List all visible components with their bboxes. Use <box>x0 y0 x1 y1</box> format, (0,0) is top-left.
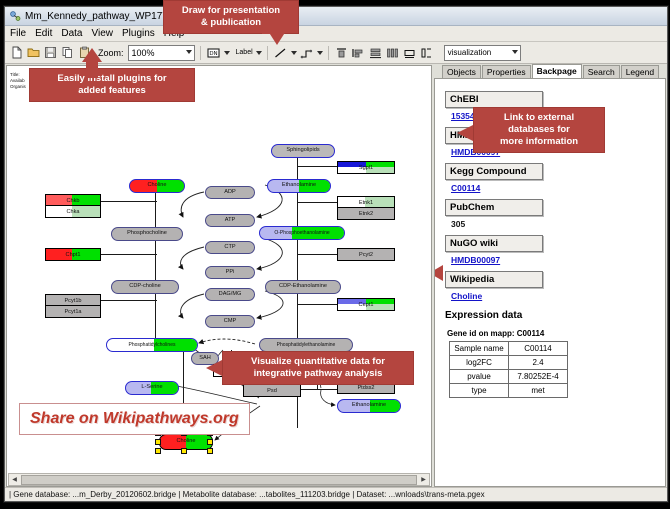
title-bar: Mm_Kennedy_pathway_WP1771_45176.gpml <box>5 7 667 26</box>
hscroll-thumb[interactable] <box>21 475 417 485</box>
resize-handle-s[interactable] <box>181 448 187 454</box>
callout-links-line1: Link to external <box>504 112 574 123</box>
zoom-combo[interactable]: 100% <box>128 45 195 61</box>
node-pcyt1a[interactable]: Pcyt1a <box>45 305 101 318</box>
tab-backpage[interactable]: Backpage <box>532 64 582 78</box>
expression-data-header: Expression data <box>445 310 665 321</box>
callout-links-arrow-2 <box>434 265 443 281</box>
menu-plugins[interactable]: Plugins <box>122 28 155 39</box>
tool-bar: Zoom: 100% DN Label <box>5 42 667 64</box>
menu-data[interactable]: Data <box>61 28 82 39</box>
node-cmp[interactable]: CMP <box>205 315 255 328</box>
share-banner: Share on Wikipathways.org <box>19 403 250 435</box>
link-wikipedia[interactable]: Choline <box>451 291 665 301</box>
size-icon[interactable] <box>402 45 417 60</box>
cell-label: type <box>450 384 509 398</box>
expression-table: Sample name C00114 log2FC 2.4 pvalue 7.8… <box>449 341 568 398</box>
node-label: ADP <box>224 190 236 196</box>
callout-links-line3: more information <box>500 136 578 147</box>
node-label: Choline <box>148 183 167 189</box>
tab-search[interactable]: Search <box>583 65 620 78</box>
node-label: Pcyt2 <box>359 252 373 258</box>
node-atp[interactable]: ATP <box>205 214 255 227</box>
distribute-icon[interactable] <box>385 45 400 60</box>
gene-id-line: Gene id on mapp: C00114 <box>447 329 665 338</box>
node-dag-mg[interactable]: DAG/MG <box>205 288 255 301</box>
pathvisio-icon <box>9 10 21 22</box>
node-label: CDP-choline <box>129 284 160 290</box>
node-label: Chpt1 <box>66 252 81 258</box>
node-label: Etnk2 <box>359 211 373 217</box>
menu-file[interactable]: File <box>10 28 26 39</box>
callout-links: Link to external databases for more info… <box>473 107 605 153</box>
chevron-down-icon[interactable] <box>317 51 323 55</box>
node-label: CTP <box>224 245 235 251</box>
group-icon[interactable] <box>419 45 434 60</box>
align-left-icon[interactable] <box>351 45 366 60</box>
node-label: Etnk1 <box>359 200 373 206</box>
visualization-value: visualization <box>448 48 492 57</box>
callout-visualize-line2: integrative pathway analysis <box>254 368 383 379</box>
node-label: Phosphatidylethanolamine <box>277 343 336 348</box>
table-row: log2FC 2.4 <box>450 356 568 370</box>
table-row: Sample name C00114 <box>450 342 568 356</box>
node-choline-top[interactable]: Choline <box>129 179 185 193</box>
canvas-organism-label: Organis <box>10 84 26 89</box>
callout-draw: Draw for presentation & publication <box>163 0 299 34</box>
section-title-nugo: NuGO wiki <box>445 235 543 252</box>
callout-plugins: Easily install plugins for added feature… <box>29 68 195 102</box>
callout-draw-line2: & publication <box>201 17 261 28</box>
node-chpt1[interactable]: Chpt1 <box>45 248 101 261</box>
save-icon[interactable] <box>43 45 58 60</box>
chevron-down-icon <box>512 50 518 54</box>
resize-handle-w[interactable] <box>155 439 161 445</box>
callout-links-line2: databases for <box>508 124 570 135</box>
cell-value: 7.80252E-4 <box>509 370 568 384</box>
node-l-serine-left[interactable]: L-Serine <box>125 381 179 395</box>
resize-handle-se[interactable] <box>207 448 213 454</box>
resize-handle-e[interactable] <box>207 439 213 445</box>
node-label: ATP <box>225 218 235 224</box>
side-panel-tabs: Objects Properties Backpage Search Legen… <box>434 65 666 78</box>
table-row: type met <box>450 384 568 398</box>
chevron-down-icon <box>186 50 192 54</box>
node-label: CMP <box>224 319 236 325</box>
stack-icon[interactable] <box>368 45 383 60</box>
svg-text:DN: DN <box>209 51 217 57</box>
resize-handle-sw[interactable] <box>155 448 161 454</box>
new-file-icon[interactable] <box>9 45 24 60</box>
toolbar-separator <box>200 46 201 60</box>
node-cept1[interactable]: Cept1 <box>337 298 395 311</box>
callout-draw-stem <box>262 24 276 34</box>
share-banner-text: Share on Wikipathways.org <box>30 410 239 427</box>
canvas-hscrollbar[interactable]: ◀ ▶ <box>8 473 430 486</box>
node-pcyt2[interactable]: Pcyt2 <box>337 248 395 261</box>
node-ethanolamine-2[interactable]: Ethanolamine <box>337 399 401 413</box>
node-adp[interactable]: ADP <box>205 186 255 199</box>
chevron-down-icon[interactable] <box>291 51 297 55</box>
node-label: Pcyt1b <box>64 298 81 304</box>
connector-icon[interactable] <box>299 45 314 60</box>
open-folder-icon[interactable] <box>26 45 41 60</box>
node-o-phosphoethanolamine[interactable]: O-Phosphoethanolamine <box>259 226 345 240</box>
link-nugo[interactable]: HMDB00097 <box>451 255 665 265</box>
link-kegg[interactable]: C00114 <box>451 183 665 193</box>
node-sgpl1[interactable]: Sgpl1 <box>337 161 395 174</box>
node-label: PPi <box>226 270 235 276</box>
zoom-value: 100% <box>132 48 155 58</box>
node-etnk2[interactable]: Etnk2 <box>337 207 395 220</box>
node-phosphatidylethanolamine[interactable]: Phosphatidylethanolamine <box>259 338 353 352</box>
node-ppi[interactable]: PPi <box>205 266 255 279</box>
datanode-icon[interactable]: DN <box>206 45 221 60</box>
node-sphingolipids[interactable]: Sphingolipids <box>271 144 335 158</box>
node-cdp-choline[interactable]: CDP-choline <box>111 280 179 294</box>
node-label: Sgpl1 <box>359 165 373 171</box>
backpage-pane: ChEBI 15354 HMDB HMDB00097 Kegg Compound… <box>434 78 666 487</box>
node-label: Pcyt1a <box>64 309 81 315</box>
node-ethanolamine-1[interactable]: Ethanolamine <box>267 179 331 193</box>
visualization-combo[interactable]: visualization <box>444 45 521 61</box>
node-psd[interactable]: Psd <box>243 384 301 397</box>
node-phosphatidylcholines[interactable]: Phosphatidylcholines <box>106 338 198 352</box>
node-label: Chkb <box>66 198 79 204</box>
tab-legend[interactable]: Legend <box>621 65 659 78</box>
node-label: DAG/MG <box>219 292 242 298</box>
side-panel: Objects Properties Backpage Search Legen… <box>434 65 666 487</box>
node-label: L-Serine <box>141 385 162 391</box>
chevron-down-icon[interactable] <box>256 51 262 55</box>
node-label: CDP-Ethanolamine <box>279 284 327 290</box>
node-label: O-Phosphoethanolamine <box>274 231 329 236</box>
cell-value: C00114 <box>509 342 568 356</box>
table-row: pvalue 7.80252E-4 <box>450 370 568 384</box>
cell-label: log2FC <box>450 356 509 370</box>
cell-value: met <box>509 384 568 398</box>
menu-edit[interactable]: Edit <box>35 28 52 39</box>
cell-value: 2.4 <box>509 356 568 370</box>
callout-draw-line1: Draw for presentation <box>182 5 280 16</box>
node-chka[interactable]: Chka <box>45 205 101 218</box>
copy-icon[interactable] <box>60 45 75 60</box>
section-title-wikipedia: Wikipedia <box>445 271 543 288</box>
node-label: Ethanolamine <box>352 403 386 409</box>
node-label: Choline <box>177 439 196 445</box>
node-cdp-ethanolamine[interactable]: CDP-Ethanolamine <box>265 280 341 294</box>
callout-plugins-line2: added features <box>78 85 146 96</box>
chevron-down-icon[interactable] <box>224 51 230 55</box>
value-pubchem: 305 <box>451 219 665 229</box>
align-top-icon[interactable] <box>334 45 349 60</box>
cell-label: pvalue <box>450 370 509 384</box>
node-label: Sphingolipids <box>286 148 319 154</box>
section-title-pubchem: PubChem <box>445 199 543 216</box>
menu-view[interactable]: View <box>91 28 113 39</box>
scroll-left-icon[interactable]: ◀ <box>9 475 20 484</box>
section-title-kegg: Kegg Compound <box>445 163 543 180</box>
toolbar-separator <box>267 46 268 60</box>
tab-properties[interactable]: Properties <box>482 65 531 78</box>
callout-plugins-stem <box>86 60 98 78</box>
menu-bar: File Edit Data View Plugins Help <box>5 26 667 42</box>
line-icon[interactable] <box>273 45 288 60</box>
tab-objects[interactable]: Objects <box>442 65 481 78</box>
node-label: Psd <box>267 388 277 394</box>
section-title-chebi: ChEBI <box>445 91 543 108</box>
status-bar: | Gene database: ...m_Derby_20120602.bri… <box>5 487 667 501</box>
pathway-canvas[interactable]: Title: Availab Organis <box>6 65 432 487</box>
pathvisio-window: Mm_Kennedy_pathway_WP1771_45176.gpml Fil… <box>4 6 668 502</box>
node-phosphocholine[interactable]: Phosphocholine <box>111 227 183 241</box>
node-label: Phosphocholine <box>127 231 167 237</box>
callout-plugins-line1: Easily install plugins for <box>57 73 166 84</box>
canvas-title-label: Title: <box>10 72 20 77</box>
node-label: Chka <box>66 209 79 215</box>
callout-visualize: Visualize quantitative data for integrat… <box>222 351 414 385</box>
node-label: Ethanolamine <box>282 183 316 189</box>
status-text: | Gene database: ...m_Derby_20120602.bri… <box>9 490 485 499</box>
canvas-available-label: Availab <box>10 78 25 83</box>
node-label: Phosphatidylcholines <box>129 343 176 348</box>
cell-label: Sample name <box>450 342 509 356</box>
node-label: Cept1 <box>359 302 374 308</box>
scroll-right-icon[interactable]: ▶ <box>418 475 429 484</box>
node-label: Ptdss2 <box>357 385 374 391</box>
label-tool-label[interactable]: Label <box>236 49 253 56</box>
node-ctp[interactable]: CTP <box>205 241 255 254</box>
main-body: Title: Availab Organis <box>5 64 667 487</box>
callout-visualize-line1: Visualize quantitative data for <box>251 356 385 367</box>
toolbar-separator <box>328 46 329 60</box>
